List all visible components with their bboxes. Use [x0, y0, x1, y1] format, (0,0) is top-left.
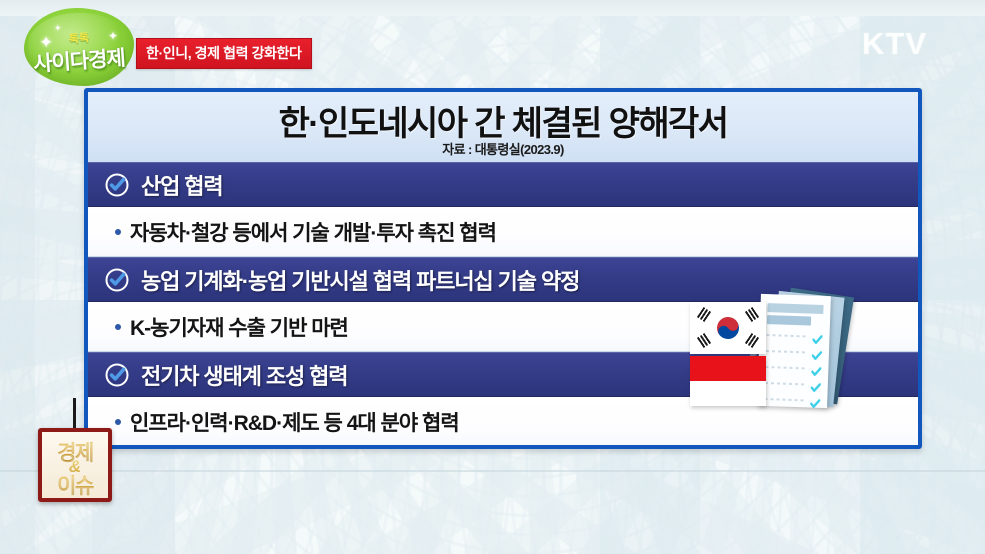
bullet-icon	[115, 324, 121, 330]
section-body: 자동차·철강 등에서 기술 개발·투자 촉진 협력	[88, 207, 918, 257]
section-body: 인프라·인력·R&D·제도 등 4대 분야 협력	[88, 397, 918, 447]
background-divider-line	[0, 470, 985, 472]
program-corner-badge: 경제 & 이슈	[38, 428, 112, 502]
section-bullet-text: 인프라·인력·R&D·제도 등 4대 분야 협력	[130, 407, 459, 437]
check-circle-icon	[104, 172, 130, 198]
show-logo: ✦ ✦ ✦ 톡톡 사이다경제	[24, 8, 134, 86]
bullet-icon	[115, 419, 121, 425]
section-header: 농업 기계화·농업 기반시설 협력 파트너십 기술 약정	[88, 257, 918, 302]
badge-line-2: 이슈	[42, 470, 108, 500]
ktv-watermark: KTV	[862, 26, 927, 62]
check-circle-icon	[104, 267, 130, 293]
section-body: K-농기자재 수출 기반 마련	[88, 302, 918, 352]
section-heading-label: 전기차 생태계 조성 협력	[141, 359, 347, 391]
subtitle-banner: 한·인니, 경제 협력 강화한다	[136, 38, 312, 69]
section-heading-label: 농업 기계화·농업 기반시설 협력 파트너십 기술 약정	[141, 264, 579, 296]
section-header: 전기차 생태계 조성 협력	[88, 352, 918, 397]
section-heading-label: 산업 협력	[141, 169, 223, 201]
background-top-band	[0, 0, 985, 16]
section-list: 산업 협력 자동차·철강 등에서 기술 개발·투자 촉진 협력 농업 기계화·농…	[88, 162, 918, 447]
info-panel: 한·인도네시아 간 체결된 양해각서 자료 : 대통령실(2023.9) 산업 …	[84, 88, 922, 449]
panel-source-note: 자료 : 대통령실(2023.9)	[88, 139, 918, 158]
bullet-icon	[115, 229, 121, 235]
section-header: 산업 협력	[88, 162, 918, 207]
section-bullet-text: 자동차·철강 등에서 기술 개발·투자 촉진 협력	[130, 217, 496, 247]
check-circle-icon	[104, 362, 130, 388]
panel-header: 한·인도네시아 간 체결된 양해각서 자료 : 대통령실(2023.9)	[88, 92, 918, 162]
section-bullet-text: K-농기자재 수출 기반 마련	[130, 312, 348, 342]
page-title: 한·인도네시아 간 체결된 양해각서	[88, 96, 918, 145]
